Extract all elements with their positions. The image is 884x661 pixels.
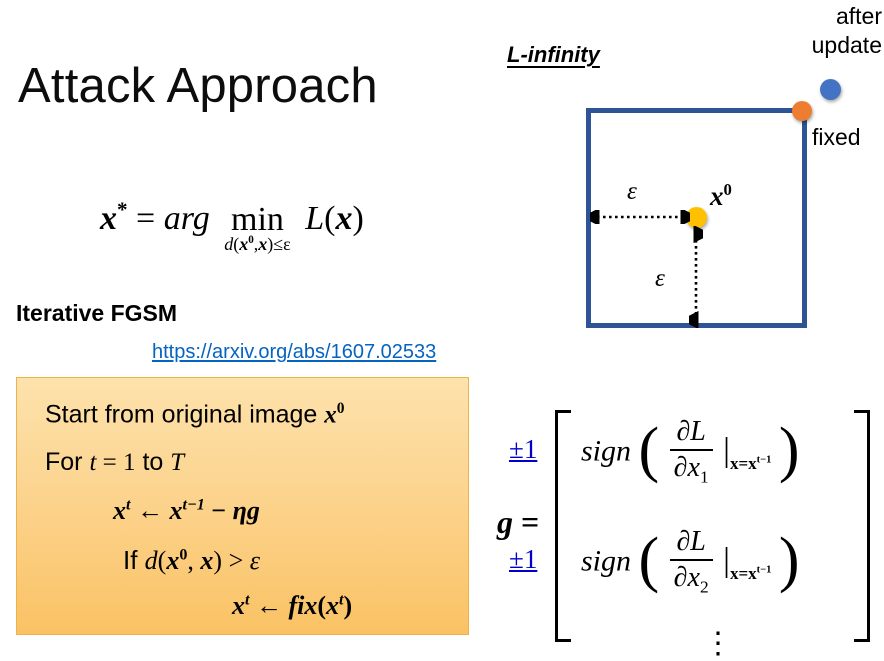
paren-close-row1: ) bbox=[779, 415, 800, 486]
gradient-matrix: g = ±1 ±1 sign ( ∂L ∂x1 |x=xt−1 ) sign (… bbox=[497, 404, 884, 648]
formula-min-operator: min bbox=[224, 203, 291, 237]
formula-loss: L(x) bbox=[305, 200, 364, 237]
epsilon-vertical-arrow bbox=[689, 226, 703, 328]
formula-equals: = bbox=[136, 200, 155, 237]
formula-constraint: d(x0,x)≤ε bbox=[224, 235, 291, 253]
matrix-bracket-right bbox=[854, 410, 870, 642]
matrix-vertical-dots: ⋮ bbox=[703, 626, 733, 661]
linfinity-label: L-infinity bbox=[507, 42, 600, 68]
fraction-row2: ∂L ∂x2 bbox=[670, 526, 713, 598]
eval-subscript-row1: x=xt−1 bbox=[730, 454, 771, 473]
epsilon-horizontal-arrow bbox=[590, 210, 690, 224]
after-update-label: after update bbox=[770, 2, 882, 61]
formula-arg: arg bbox=[164, 200, 210, 237]
eval-bar-row2: |x=xt−1 bbox=[723, 542, 771, 584]
eval-bar-row1: |x=xt−1 bbox=[723, 432, 771, 474]
matrix-row-partial-x2: sign ( ∂L ∂x2 |x=xt−1 ) bbox=[581, 528, 800, 600]
matrix-row-partial-x1: sign ( ∂L ∂x1 |x=xt−1 ) bbox=[581, 418, 800, 490]
algorithm-line-if: If d(x0, x) > ε bbox=[123, 545, 260, 576]
matrix-bracket-left bbox=[555, 410, 571, 642]
algorithm-line-for: For t = 1 to T bbox=[45, 448, 184, 477]
after-update-dot bbox=[820, 79, 841, 100]
plus-minus-one-row1: ±1 bbox=[509, 434, 537, 465]
algorithm-line-fix: xt ← fix(xt) bbox=[232, 591, 352, 621]
fraction-row1: ∂L ∂x1 bbox=[670, 416, 713, 488]
paren-open-row2: ( bbox=[639, 525, 660, 596]
objective-formula: x* = arg min d(x0,x)≤ε L(x) bbox=[100, 196, 364, 246]
algorithm-line-start: Start from original image x0 bbox=[45, 400, 345, 429]
epsilon-label-vertical: ε bbox=[655, 265, 665, 293]
fixed-label: fixed bbox=[812, 124, 861, 151]
algorithm-box: Start from original image x0 For t = 1 t… bbox=[16, 377, 469, 635]
denominator-row1: ∂x1 bbox=[670, 451, 713, 488]
algorithm-line-update: xt ← xt−1 − ηg bbox=[113, 496, 260, 526]
denominator-row2: ∂x2 bbox=[670, 561, 713, 598]
formula-argmin: min d(x0,x)≤ε bbox=[224, 203, 291, 253]
g-equals-label: g = bbox=[497, 504, 539, 541]
x0-label: x0 bbox=[710, 180, 732, 212]
epsilon-label-horizontal: ε bbox=[627, 178, 637, 206]
fixed-dot bbox=[792, 101, 812, 121]
paren-open-row1: ( bbox=[639, 415, 660, 486]
paren-close-row2: ) bbox=[779, 525, 800, 596]
eval-subscript-row2: x=xt−1 bbox=[730, 564, 771, 583]
page-title: Attack Approach bbox=[18, 58, 378, 114]
formula-x-star: x* bbox=[100, 200, 128, 237]
plus-minus-one-row2: ±1 bbox=[509, 544, 537, 575]
iterative-fgsm-heading: Iterative FGSM bbox=[16, 300, 177, 327]
paper-link[interactable]: https://arxiv.org/abs/1607.02533 bbox=[152, 341, 436, 364]
